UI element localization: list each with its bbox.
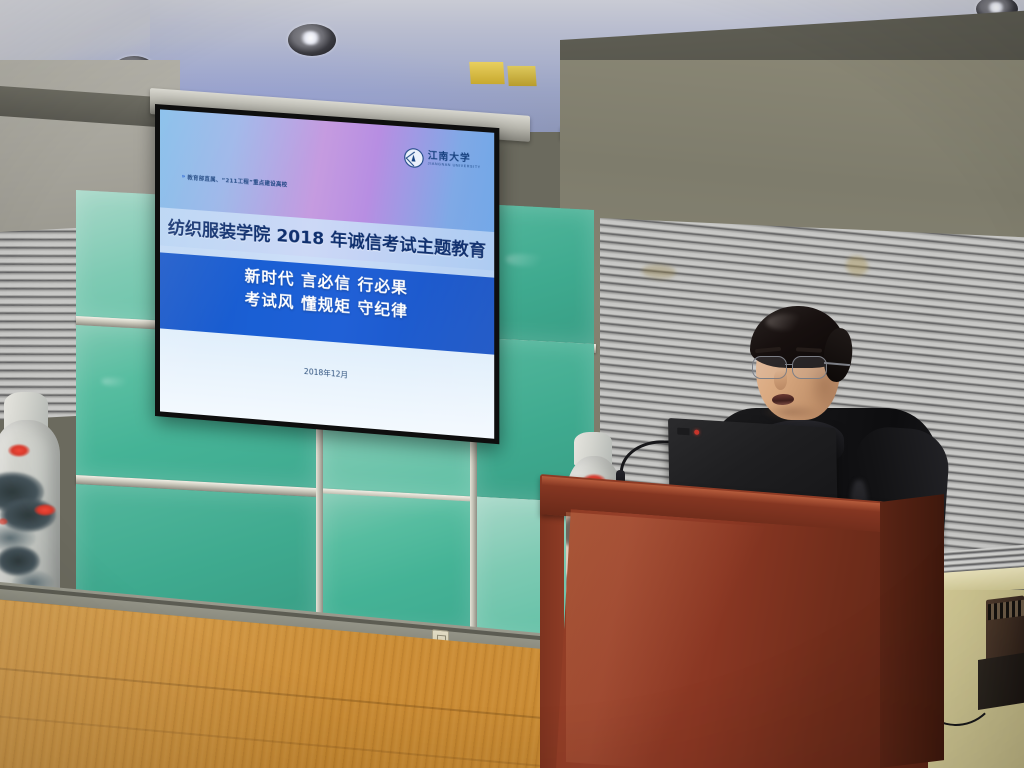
lecture-hall-photo: » 教育部直属、“211工程”重点建设高校 江南大学 JIANGNAN UNIV… xyxy=(0,0,1024,768)
presentation-slide: » 教育部直属、“211工程”重点建设高校 江南大学 JIANGNAN UNIV… xyxy=(160,109,494,438)
laptop-brand-logo-icon xyxy=(677,428,699,436)
nose xyxy=(774,370,787,390)
screen-mount-bracket xyxy=(507,66,536,86)
chevron-right-icon: » xyxy=(181,173,184,180)
eyeglass-bridge xyxy=(785,364,793,365)
recessed-downlight-icon xyxy=(288,24,336,56)
chin-shading xyxy=(762,404,820,420)
projection-screen: » 教育部直属、“211工程”重点建设高校 江南大学 JIANGNAN UNIV… xyxy=(155,104,499,444)
university-crest-icon xyxy=(404,148,423,169)
eyeglass-lens xyxy=(792,356,827,379)
eyeglasses xyxy=(752,356,848,378)
eyeglass-temple xyxy=(824,362,850,366)
screen-mount-bracket xyxy=(469,62,504,84)
hair-highlight xyxy=(766,314,806,330)
ceiling-corner xyxy=(0,0,150,60)
wooden-podium xyxy=(556,508,928,768)
podium-side-panel xyxy=(880,494,944,768)
